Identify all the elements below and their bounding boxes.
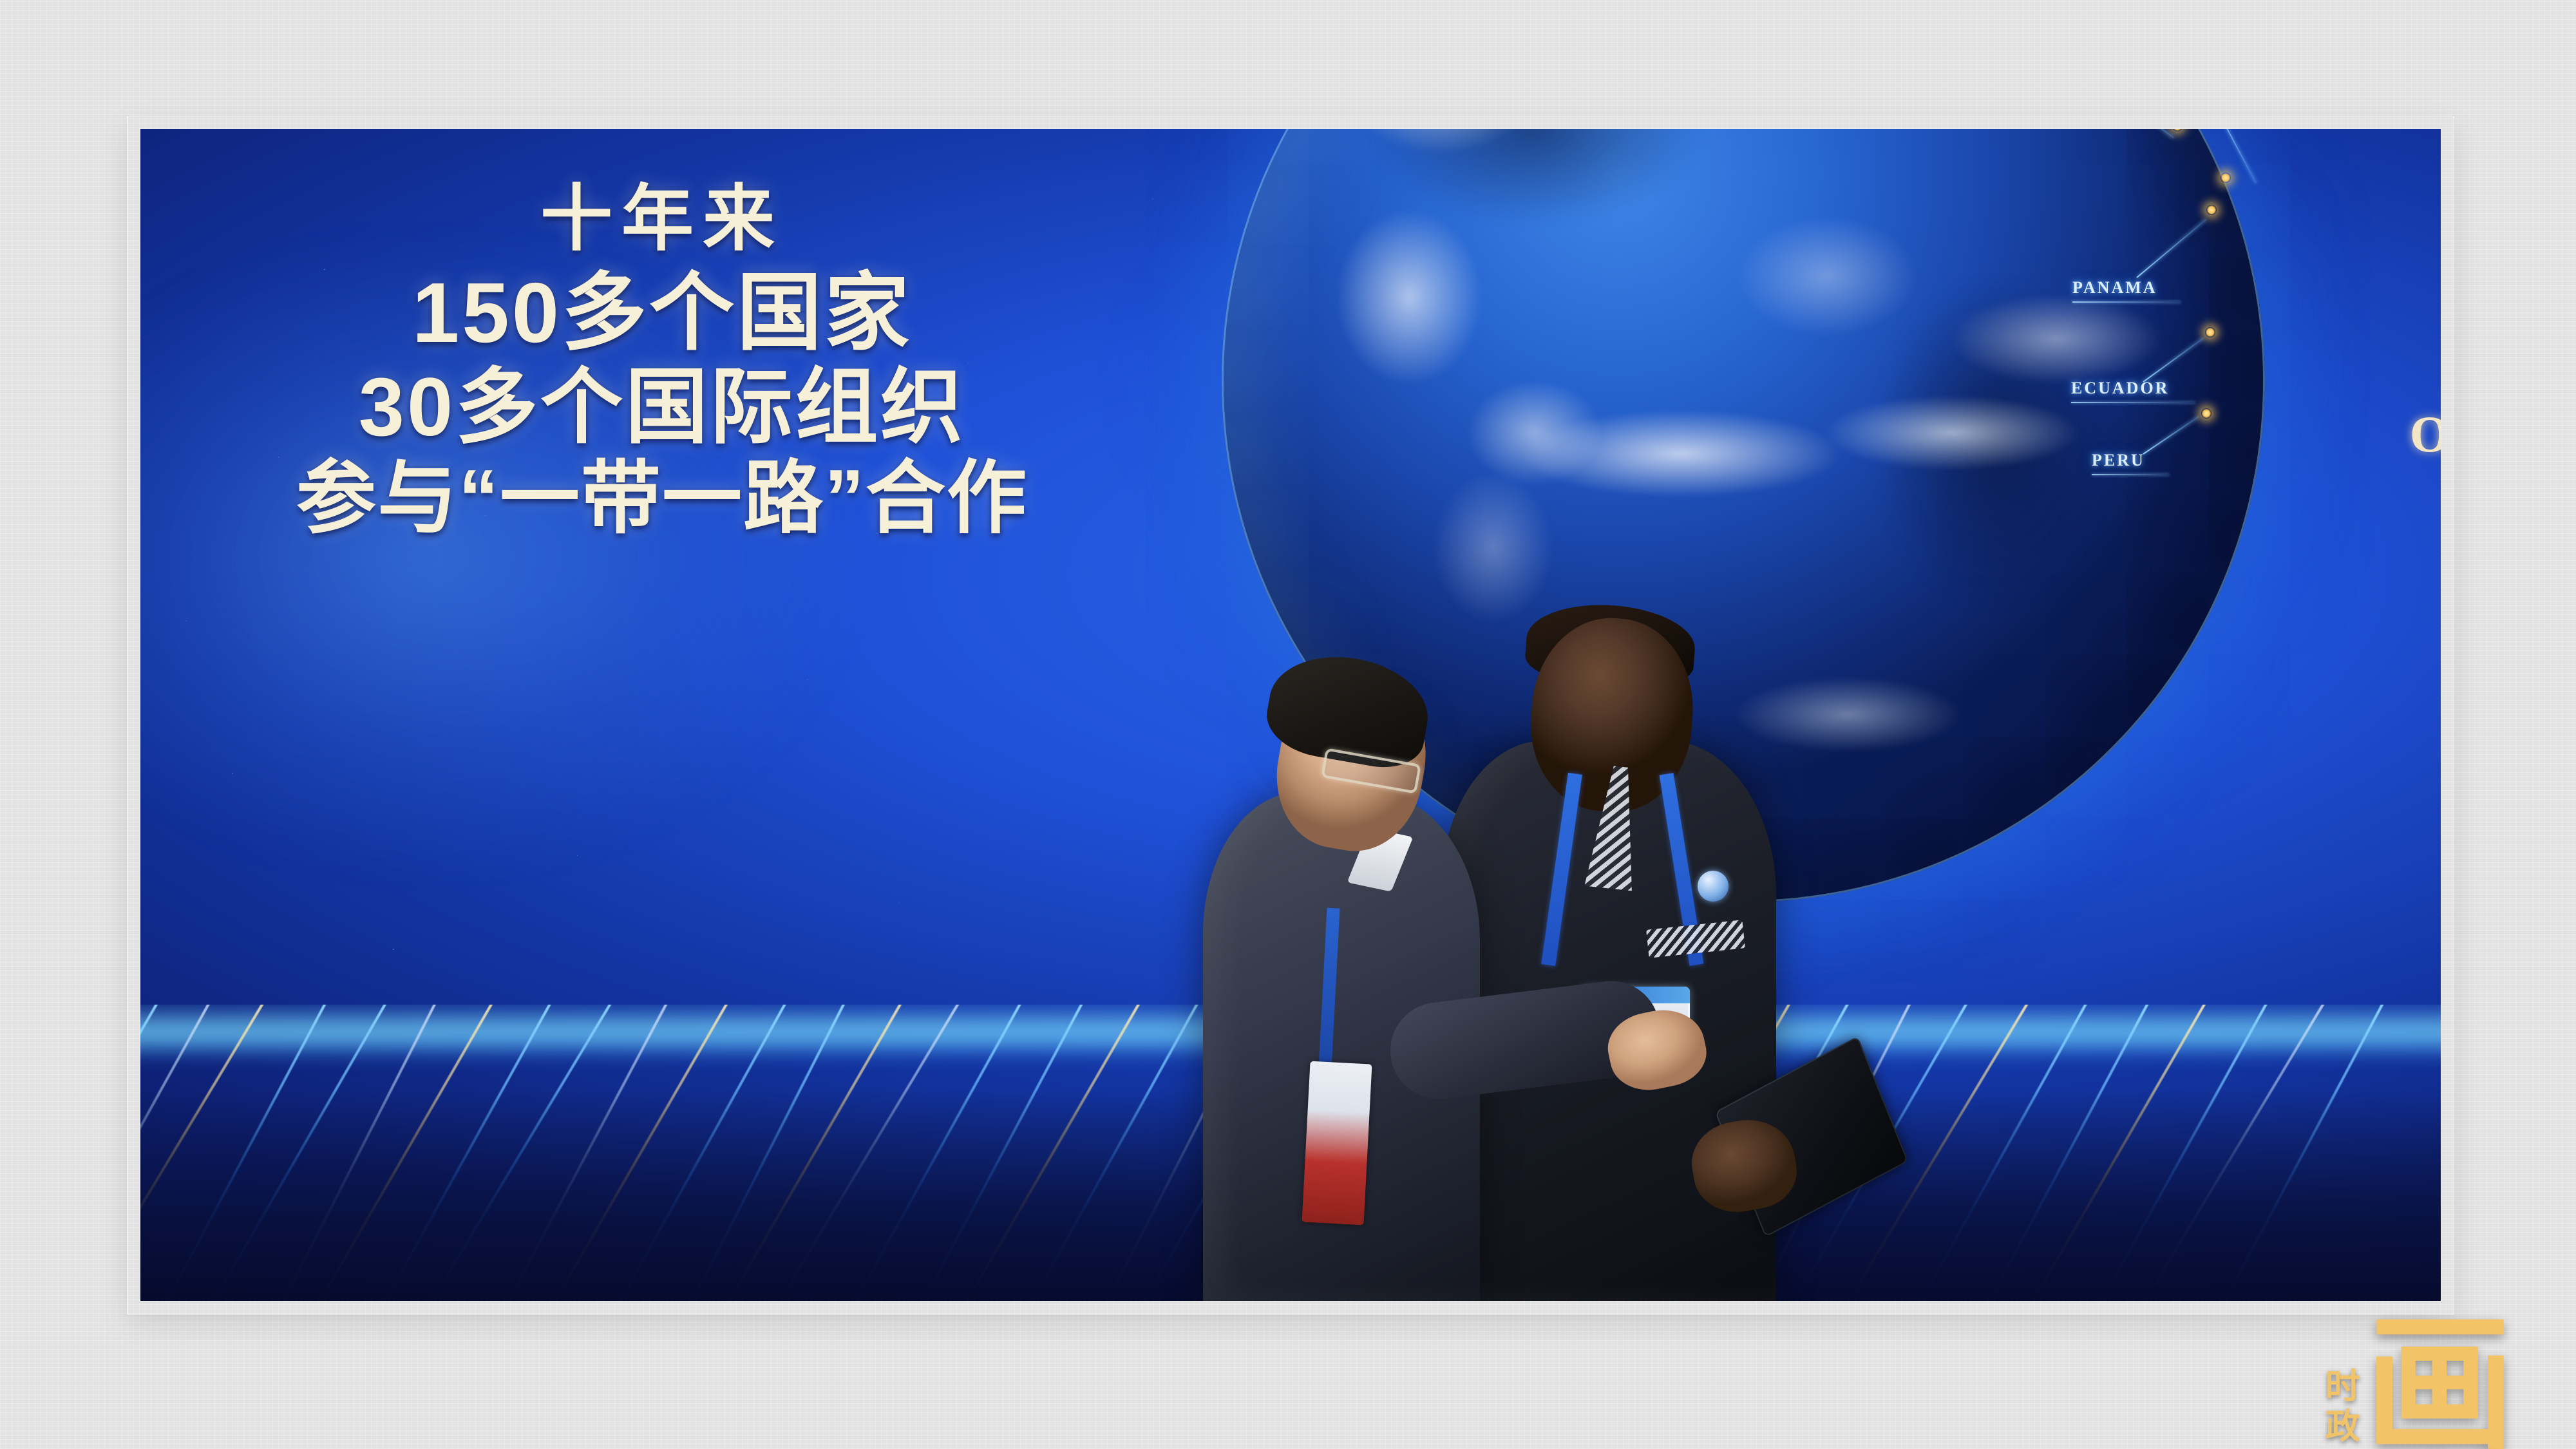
conference-photo: CUBA JAMAICA PANAMA ECUADOR PERU <box>140 129 2441 1301</box>
map-underline-peru <box>2092 474 2169 475</box>
map-label-panama: PANAMA <box>2072 278 2157 298</box>
map-node-ecuador <box>2205 327 2215 337</box>
map-node-panama <box>2206 205 2217 215</box>
map-underline-panama <box>2072 301 2181 303</box>
people-group <box>1197 431 1841 1301</box>
map-node-jamaica <box>2221 173 2231 183</box>
map-label-ecuador: ECUADOR <box>2071 379 2169 398</box>
page-root: CUBA JAMAICA PANAMA ECUADOR PERU <box>0 0 2576 1449</box>
logo-big-char-1: 画 <box>2365 1316 2515 1449</box>
headline-line-2: 150多个国家 <box>179 267 1145 359</box>
lapel-pin-icon <box>1698 871 1728 902</box>
headline-line-3: 30多个国际组织 <box>179 363 1145 452</box>
logo-small-text: 时 政 <box>2325 1367 2360 1446</box>
headline-line-1: 十年来 <box>179 180 1145 258</box>
map-underline-ecuador <box>2071 402 2195 403</box>
program-logo: 时 政 画 说 : <box>2325 1316 2564 1449</box>
logo-small-char-1: 时 <box>2325 1367 2360 1406</box>
map-node-peru <box>2201 408 2211 419</box>
cropped-letter-o: O <box>2410 406 2441 464</box>
headline-block: 十年来 150多个国家 30多个国际组织 参与“一带一路”合作 <box>179 180 1145 542</box>
map-label-peru: PERU <box>2092 451 2145 470</box>
official-left-badge <box>1302 1061 1372 1226</box>
headline-line-4: 参与“一带一路”合作 <box>179 456 1145 542</box>
logo-small-char-2: 政 <box>2325 1406 2360 1446</box>
logo-big-text: 画 说 : <box>2365 1316 2564 1449</box>
